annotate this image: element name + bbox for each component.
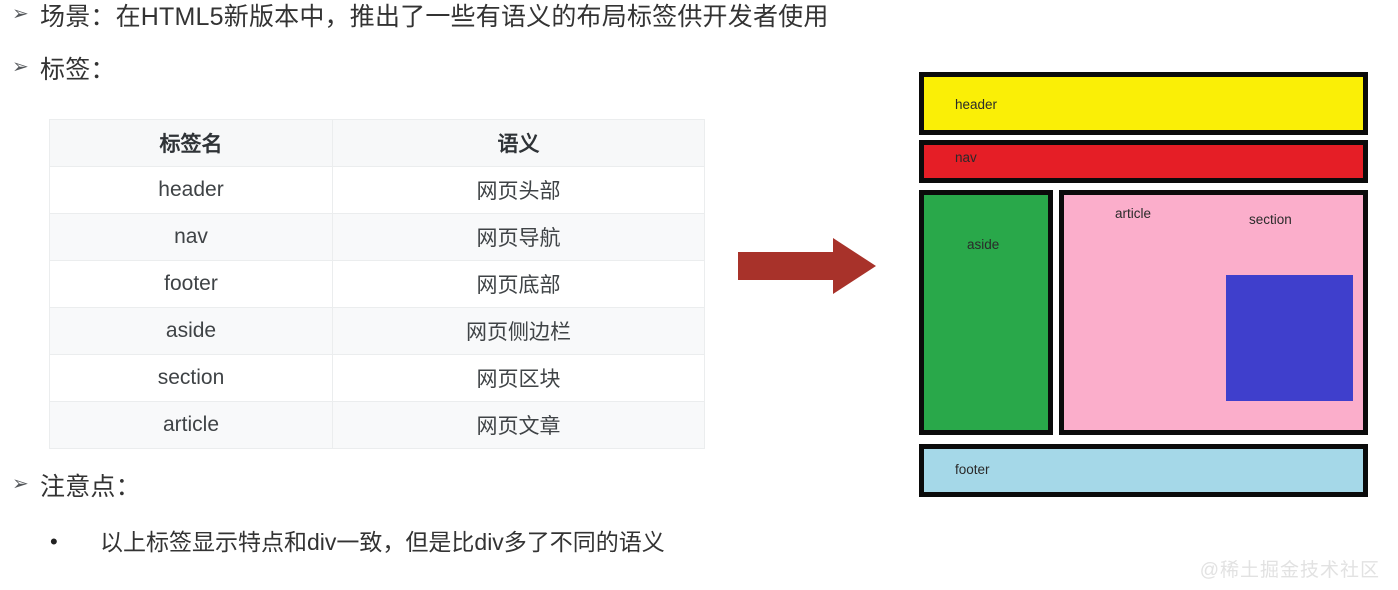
table-row: header 网页头部 bbox=[50, 167, 705, 214]
cell-tag-name: footer bbox=[50, 261, 333, 308]
cell-semantic: 网页底部 bbox=[333, 261, 705, 308]
sub-bullet-note-text: 以上标签显示特点和div一致，但是比div多了不同的语义 bbox=[100, 528, 665, 558]
table-header-semantic: 语义 bbox=[333, 120, 705, 167]
diagram-label-section: section bbox=[1249, 212, 1292, 227]
table-row: nav 网页导航 bbox=[50, 214, 705, 261]
diagram-box-nav bbox=[919, 140, 1368, 183]
diagram-label-header: header bbox=[955, 97, 997, 112]
diagram-label-footer: footer bbox=[955, 462, 990, 477]
table-header-row: 标签名 语义 bbox=[50, 120, 705, 167]
table-row: article 网页文章 bbox=[50, 402, 705, 449]
cell-tag-name: section bbox=[50, 355, 333, 402]
chevron-bullet-icon: ➢ bbox=[6, 2, 40, 27]
cell-semantic: 网页头部 bbox=[333, 167, 705, 214]
table-row: footer 网页底部 bbox=[50, 261, 705, 308]
diagram-label-article: article bbox=[1115, 206, 1151, 221]
diagram-box-aside bbox=[919, 190, 1053, 435]
diagram-label-nav: nav bbox=[955, 150, 977, 165]
diagram-box-article bbox=[1226, 275, 1353, 401]
chevron-bullet-icon: ➢ bbox=[6, 55, 40, 80]
chevron-bullet-icon: ➢ bbox=[6, 472, 40, 497]
bullet-tags-text: 标签： bbox=[40, 55, 116, 86]
dot-bullet-icon: • bbox=[44, 528, 100, 557]
table-header-tag-name: 标签名 bbox=[50, 120, 333, 167]
cell-semantic: 网页侧边栏 bbox=[333, 308, 705, 355]
cell-semantic: 网页文章 bbox=[333, 402, 705, 449]
cell-tag-name: header bbox=[50, 167, 333, 214]
bullet-scene-text: 场景：在HTML5新版本中，推出了一些有语义的布局标签供开发者使用 bbox=[40, 2, 829, 33]
cell-semantic: 网页区块 bbox=[333, 355, 705, 402]
cell-tag-name: aside bbox=[50, 308, 333, 355]
bullet-scene: ➢ 场景：在HTML5新版本中，推出了一些有语义的布局标签供开发者使用 bbox=[6, 2, 829, 33]
bullet-notes-text: 注意点： bbox=[40, 472, 141, 503]
cell-tag-name: nav bbox=[50, 214, 333, 261]
diagram-label-aside: aside bbox=[967, 237, 999, 252]
diagram-box-section bbox=[1059, 190, 1368, 435]
bullet-notes: ➢ 注意点： bbox=[6, 472, 141, 503]
right-arrow-icon bbox=[738, 236, 878, 296]
sub-bullet-note: • 以上标签显示特点和div一致，但是比div多了不同的语义 bbox=[44, 528, 665, 558]
html5-layout-diagram: header nav aside section article footer bbox=[919, 72, 1368, 497]
table-row: section 网页区块 bbox=[50, 355, 705, 402]
cell-tag-name: article bbox=[50, 402, 333, 449]
watermark: @稀土掘金技术社区 bbox=[1200, 555, 1380, 582]
html5-semantic-tags-table: 标签名 语义 header 网页头部 nav 网页导航 footer 网页底部 … bbox=[49, 119, 705, 449]
table-row: aside 网页侧边栏 bbox=[50, 308, 705, 355]
cell-semantic: 网页导航 bbox=[333, 214, 705, 261]
bullet-tags: ➢ 标签： bbox=[6, 55, 116, 86]
